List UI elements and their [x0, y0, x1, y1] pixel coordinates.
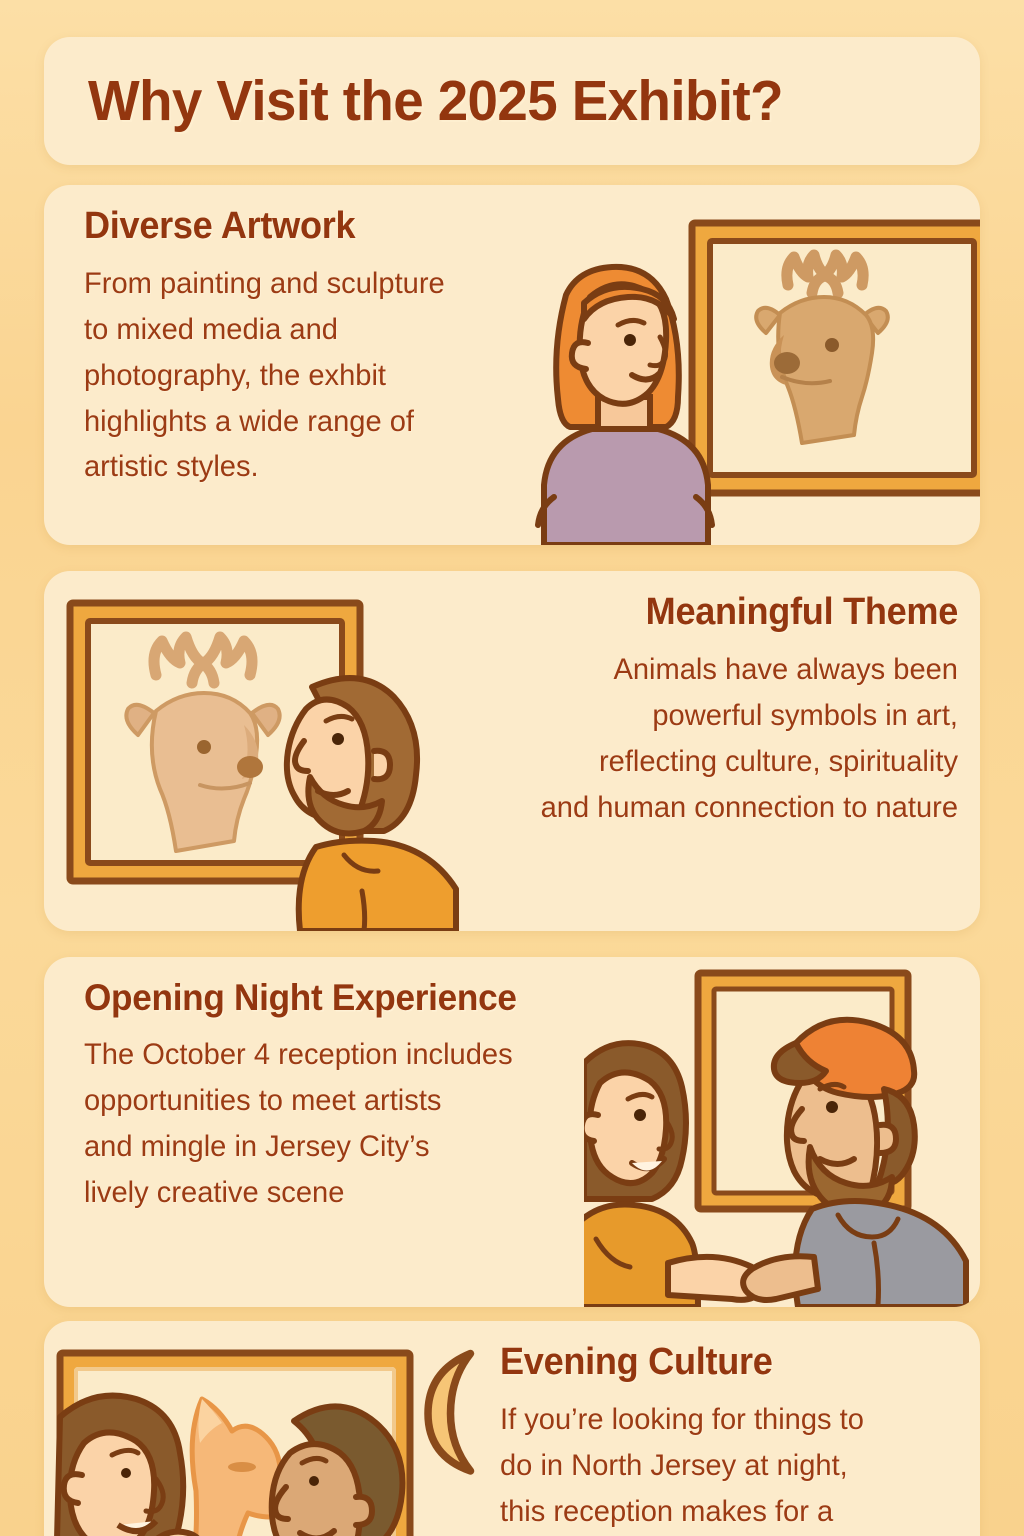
- handshake-illustration: [584, 957, 980, 1307]
- card2-body-line: reflecting culture, spirituality: [512, 739, 958, 785]
- woman-viewing-deer-painting-illustration: [514, 185, 980, 545]
- card3-text-column: Opening Night Experience The October 4 r…: [44, 957, 584, 1307]
- card2-text-column: Meaningful Theme Animals have always bee…: [480, 571, 980, 931]
- card3-body: The October 4 reception includes opportu…: [84, 1032, 552, 1216]
- card3-body-line: and mingle in Jersey City’s: [84, 1124, 552, 1170]
- card4-body-line: If you’re looking for things to: [500, 1397, 937, 1443]
- card4-heading: Evening Culture: [500, 1343, 928, 1383]
- feature-card-evening-culture: Evening Culture If you’re looking for th…: [44, 1321, 980, 1536]
- bearded-man-figure: [287, 678, 456, 931]
- card1-body-line: to mixed media and: [84, 307, 484, 353]
- card1-text-column: Diverse Artwork From painting and sculpt…: [44, 185, 514, 545]
- card4-body-line: this reception makes for a: [500, 1489, 937, 1535]
- card1-body-line: photography, the exhbit: [84, 353, 484, 399]
- card1-heading: Diverse Artwork: [84, 207, 475, 247]
- feature-card-meaningful-theme: Meaningful Theme Animals have always bee…: [44, 571, 980, 931]
- page-title: Why Visit the 2025 Exhibit?: [88, 68, 783, 134]
- card1-body: From painting and sculpture to mixed med…: [84, 261, 484, 490]
- card3-heading: Opening Night Experience: [84, 979, 542, 1018]
- card1-illustration: [514, 185, 980, 545]
- card2-illustration: [44, 571, 480, 931]
- card4-text-column: Evening Culture If you’re looking for th…: [480, 1321, 980, 1536]
- card2-body-line: Animals have always been: [512, 647, 958, 693]
- infographic-page: Why Visit the 2025 Exhibit? Diverse Artw…: [0, 0, 1024, 1536]
- card1-body-line: highlights a wide range of: [84, 399, 484, 445]
- crescent-moon-icon: [428, 1354, 471, 1472]
- card2-body-line: and human connection to nature: [512, 785, 958, 831]
- card1-body-line: From painting and sculpture: [84, 261, 484, 307]
- card1-body-line: artistic styles.: [84, 444, 484, 490]
- card2-body-line: powerful symbols in art,: [512, 693, 958, 739]
- feature-card-diverse-artwork: Diverse Artwork From painting and sculpt…: [44, 185, 980, 545]
- card4-body: If you’re looking for things to do in No…: [500, 1397, 937, 1536]
- card2-body: Animals have always been powerful symbol…: [512, 647, 958, 831]
- woman-figure: [538, 267, 712, 545]
- title-card: Why Visit the 2025 Exhibit?: [44, 37, 980, 165]
- card4-illustration: [44, 1321, 480, 1536]
- card2-heading: Meaningful Theme: [521, 593, 958, 633]
- feature-card-opening-night: Opening Night Experience The October 4 r…: [44, 957, 980, 1307]
- card3-illustration: [584, 957, 980, 1307]
- card4-body-line: do in North Jersey at night,: [500, 1443, 937, 1489]
- card3-body-line: opportunities to meet artists: [84, 1078, 552, 1124]
- card3-body-line: lively creative scene: [84, 1170, 552, 1216]
- bearded-man-viewing-deer-painting-illustration: [44, 571, 480, 931]
- couple-night-fox-illustration: [44, 1321, 480, 1536]
- card3-body-line: The October 4 reception includes: [84, 1032, 552, 1078]
